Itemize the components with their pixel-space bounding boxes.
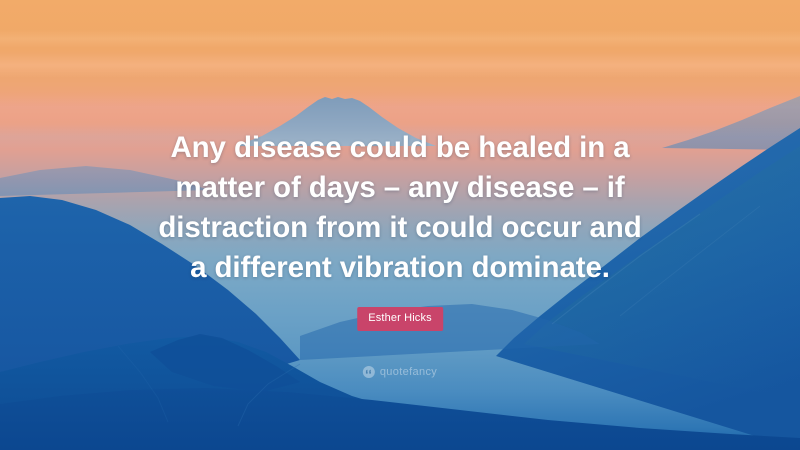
quote-text: Any disease could be healed in a matter …	[120, 128, 680, 288]
quote-line: Any disease could be healed in a	[120, 128, 680, 168]
quote-poster: Any disease could be healed in a matter …	[0, 0, 800, 450]
quote-line: a different vibration dominate.	[120, 248, 680, 288]
quote-content: Any disease could be healed in a matter …	[0, 0, 800, 450]
quote-line: distraction from it could occur and	[120, 208, 680, 248]
author-badge[interactable]: Esther Hicks	[357, 307, 443, 331]
quote-line: matter of days – any disease – if	[120, 168, 680, 208]
quotefancy-brand-text: quotefancy	[380, 366, 437, 378]
author-name: Esther Hicks	[368, 312, 432, 324]
quote-mark-circle-icon	[363, 366, 375, 378]
quotefancy-watermark[interactable]: quotefancy	[363, 366, 437, 378]
